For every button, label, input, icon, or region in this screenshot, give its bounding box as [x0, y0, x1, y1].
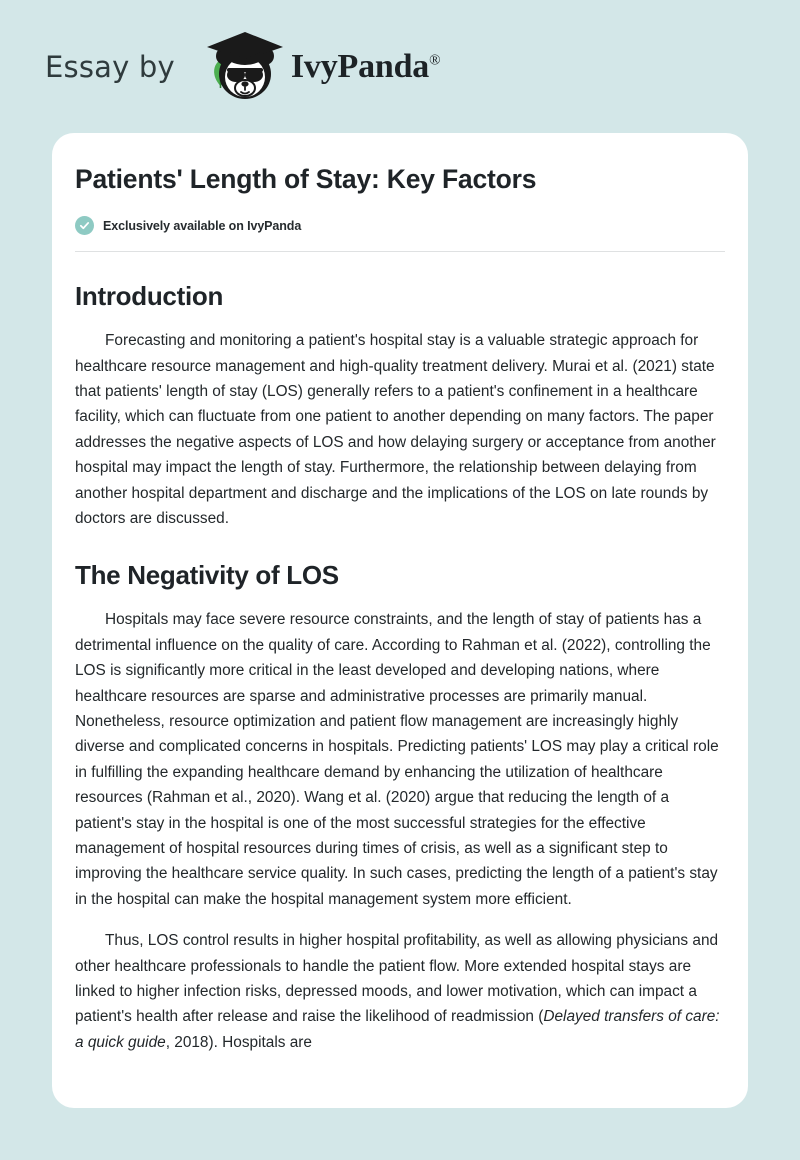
paragraph-tail-text: , 2018). Hospitals are	[166, 1034, 312, 1051]
ivypanda-logo[interactable]: IvyPanda®	[191, 30, 440, 104]
brand-name-text: IvyPanda	[291, 48, 429, 85]
exclusive-label: Exclusively available on IvyPanda	[103, 219, 301, 233]
site-header: Essay by	[0, 0, 800, 133]
check-circle-icon	[75, 216, 94, 235]
brand-wordmark: IvyPanda®	[291, 48, 440, 86]
title-divider	[75, 251, 725, 252]
trademark-symbol: ®	[429, 52, 440, 68]
panda-graduate-icon	[191, 30, 287, 104]
essay-by-label: Essay by	[45, 50, 175, 84]
page-title: Patients' Length of Stay: Key Factors	[75, 163, 725, 196]
section-heading-introduction: Introduction	[75, 281, 725, 312]
paragraph-with-citation: Thus, LOS control results in higher hosp…	[75, 928, 725, 1055]
section-heading-negativity-of-los: The Negativity of LOS	[75, 560, 725, 591]
paragraph: Hospitals may face severe resource const…	[75, 607, 725, 912]
paragraph: Forecasting and monitoring a patient's h…	[75, 328, 725, 531]
essay-card: Patients' Length of Stay: Key Factors Ex…	[52, 133, 748, 1108]
status-badge: Exclusively available on IvyPanda	[75, 216, 725, 235]
